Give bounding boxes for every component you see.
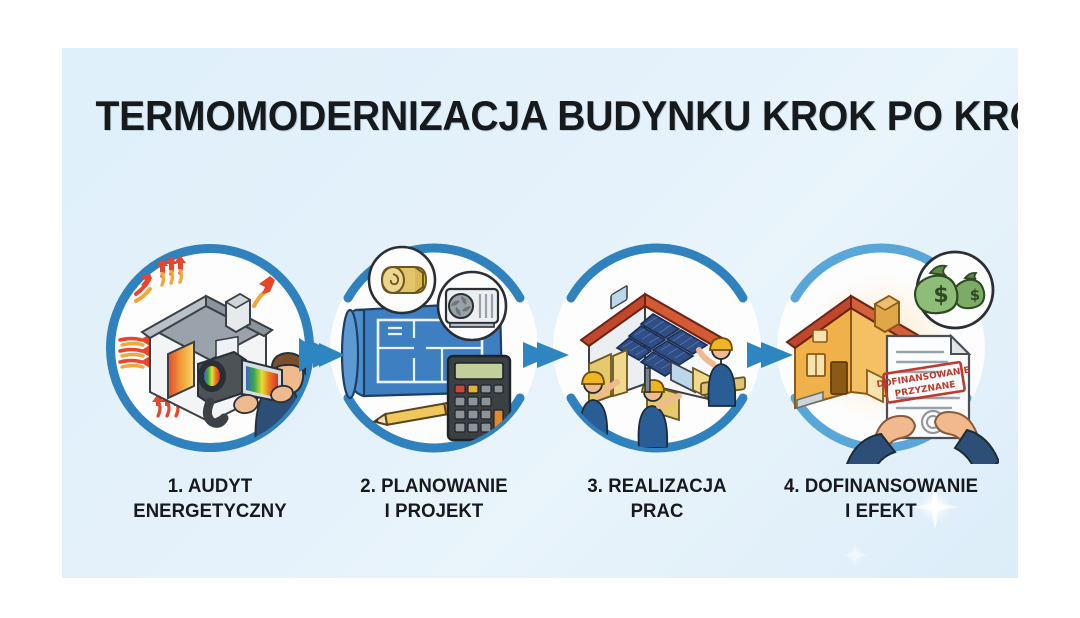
infographic-panel: TERMOMODERNIZACJA BUDYNKU KROK PO KROKU <box>62 48 1018 578</box>
arrow-step3-step4-icon <box>743 334 799 376</box>
funding-granted-icon: $ $ <box>777 244 985 452</box>
step-realizacja-prac[interactable]: 3. REALIZACJA PRAC <box>545 236 769 536</box>
construction-works-icon <box>553 244 761 452</box>
page-title: TERMOMODERNIZACJA BUDYNKU KROK PO KROKU <box>95 92 984 140</box>
step-1-caption: 1. AUDYT ENERGETYCZNY <box>87 474 334 524</box>
step-planowanie-i-projekt[interactable]: 2. PLANOWANIE I PROJEKT <box>322 236 546 536</box>
step-2-caption: 2. PLANOWANIE I PROJEKT <box>311 474 558 524</box>
insulation-roll-badge-icon <box>369 247 435 313</box>
money-bags-badge-icon: $ $ <box>915 252 993 328</box>
step-1-circle <box>98 236 322 460</box>
infographic-root: TERMOMODERNIZACJA BUDYNKU KROK PO KROKU <box>0 0 1080 618</box>
step-2-circle <box>322 236 546 460</box>
step-1-caption-line1: 1. AUDYT <box>87 474 334 499</box>
step-1-caption-line2: ENERGETYCZNY <box>87 499 334 524</box>
step-4-caption-line1: 4. DOFINANSOWANIE <box>758 474 1005 499</box>
thermal-audit-icon <box>106 244 314 452</box>
step-3-circle <box>545 236 769 460</box>
arrow-step2-step3-icon <box>519 334 575 376</box>
svg-text:$: $ <box>970 286 980 304</box>
step-4-circle: $ $ <box>769 236 993 460</box>
heat-pump-badge-icon <box>438 272 506 340</box>
step-3-caption-line2: PRAC <box>534 499 781 524</box>
step-audyt-energetyczny[interactable]: 1. AUDYT ENERGETYCZNY <box>98 236 322 536</box>
step-2-caption-line1: 2. PLANOWANIE <box>311 474 558 499</box>
arrow-step1-step2-icon <box>295 334 351 376</box>
step-3-caption: 3. REALIZACJA PRAC <box>534 474 781 524</box>
steps-row: 1. AUDYT ENERGETYCZNY <box>62 236 1018 536</box>
step-4-caption: 4. DOFINANSOWANIE I EFEKT <box>758 474 1005 524</box>
step-2-caption-line2: I PROJEKT <box>311 499 558 524</box>
svg-text:$: $ <box>933 283 948 308</box>
sparkle-decoration-small-icon <box>842 542 868 568</box>
blueprint-planning-icon <box>330 244 538 452</box>
step-3-caption-line1: 3. REALIZACJA <box>534 474 781 499</box>
step-dofinansowanie-i-efekt[interactable]: $ $ <box>769 236 993 536</box>
step-4-caption-line2: I EFEKT <box>758 499 1005 524</box>
